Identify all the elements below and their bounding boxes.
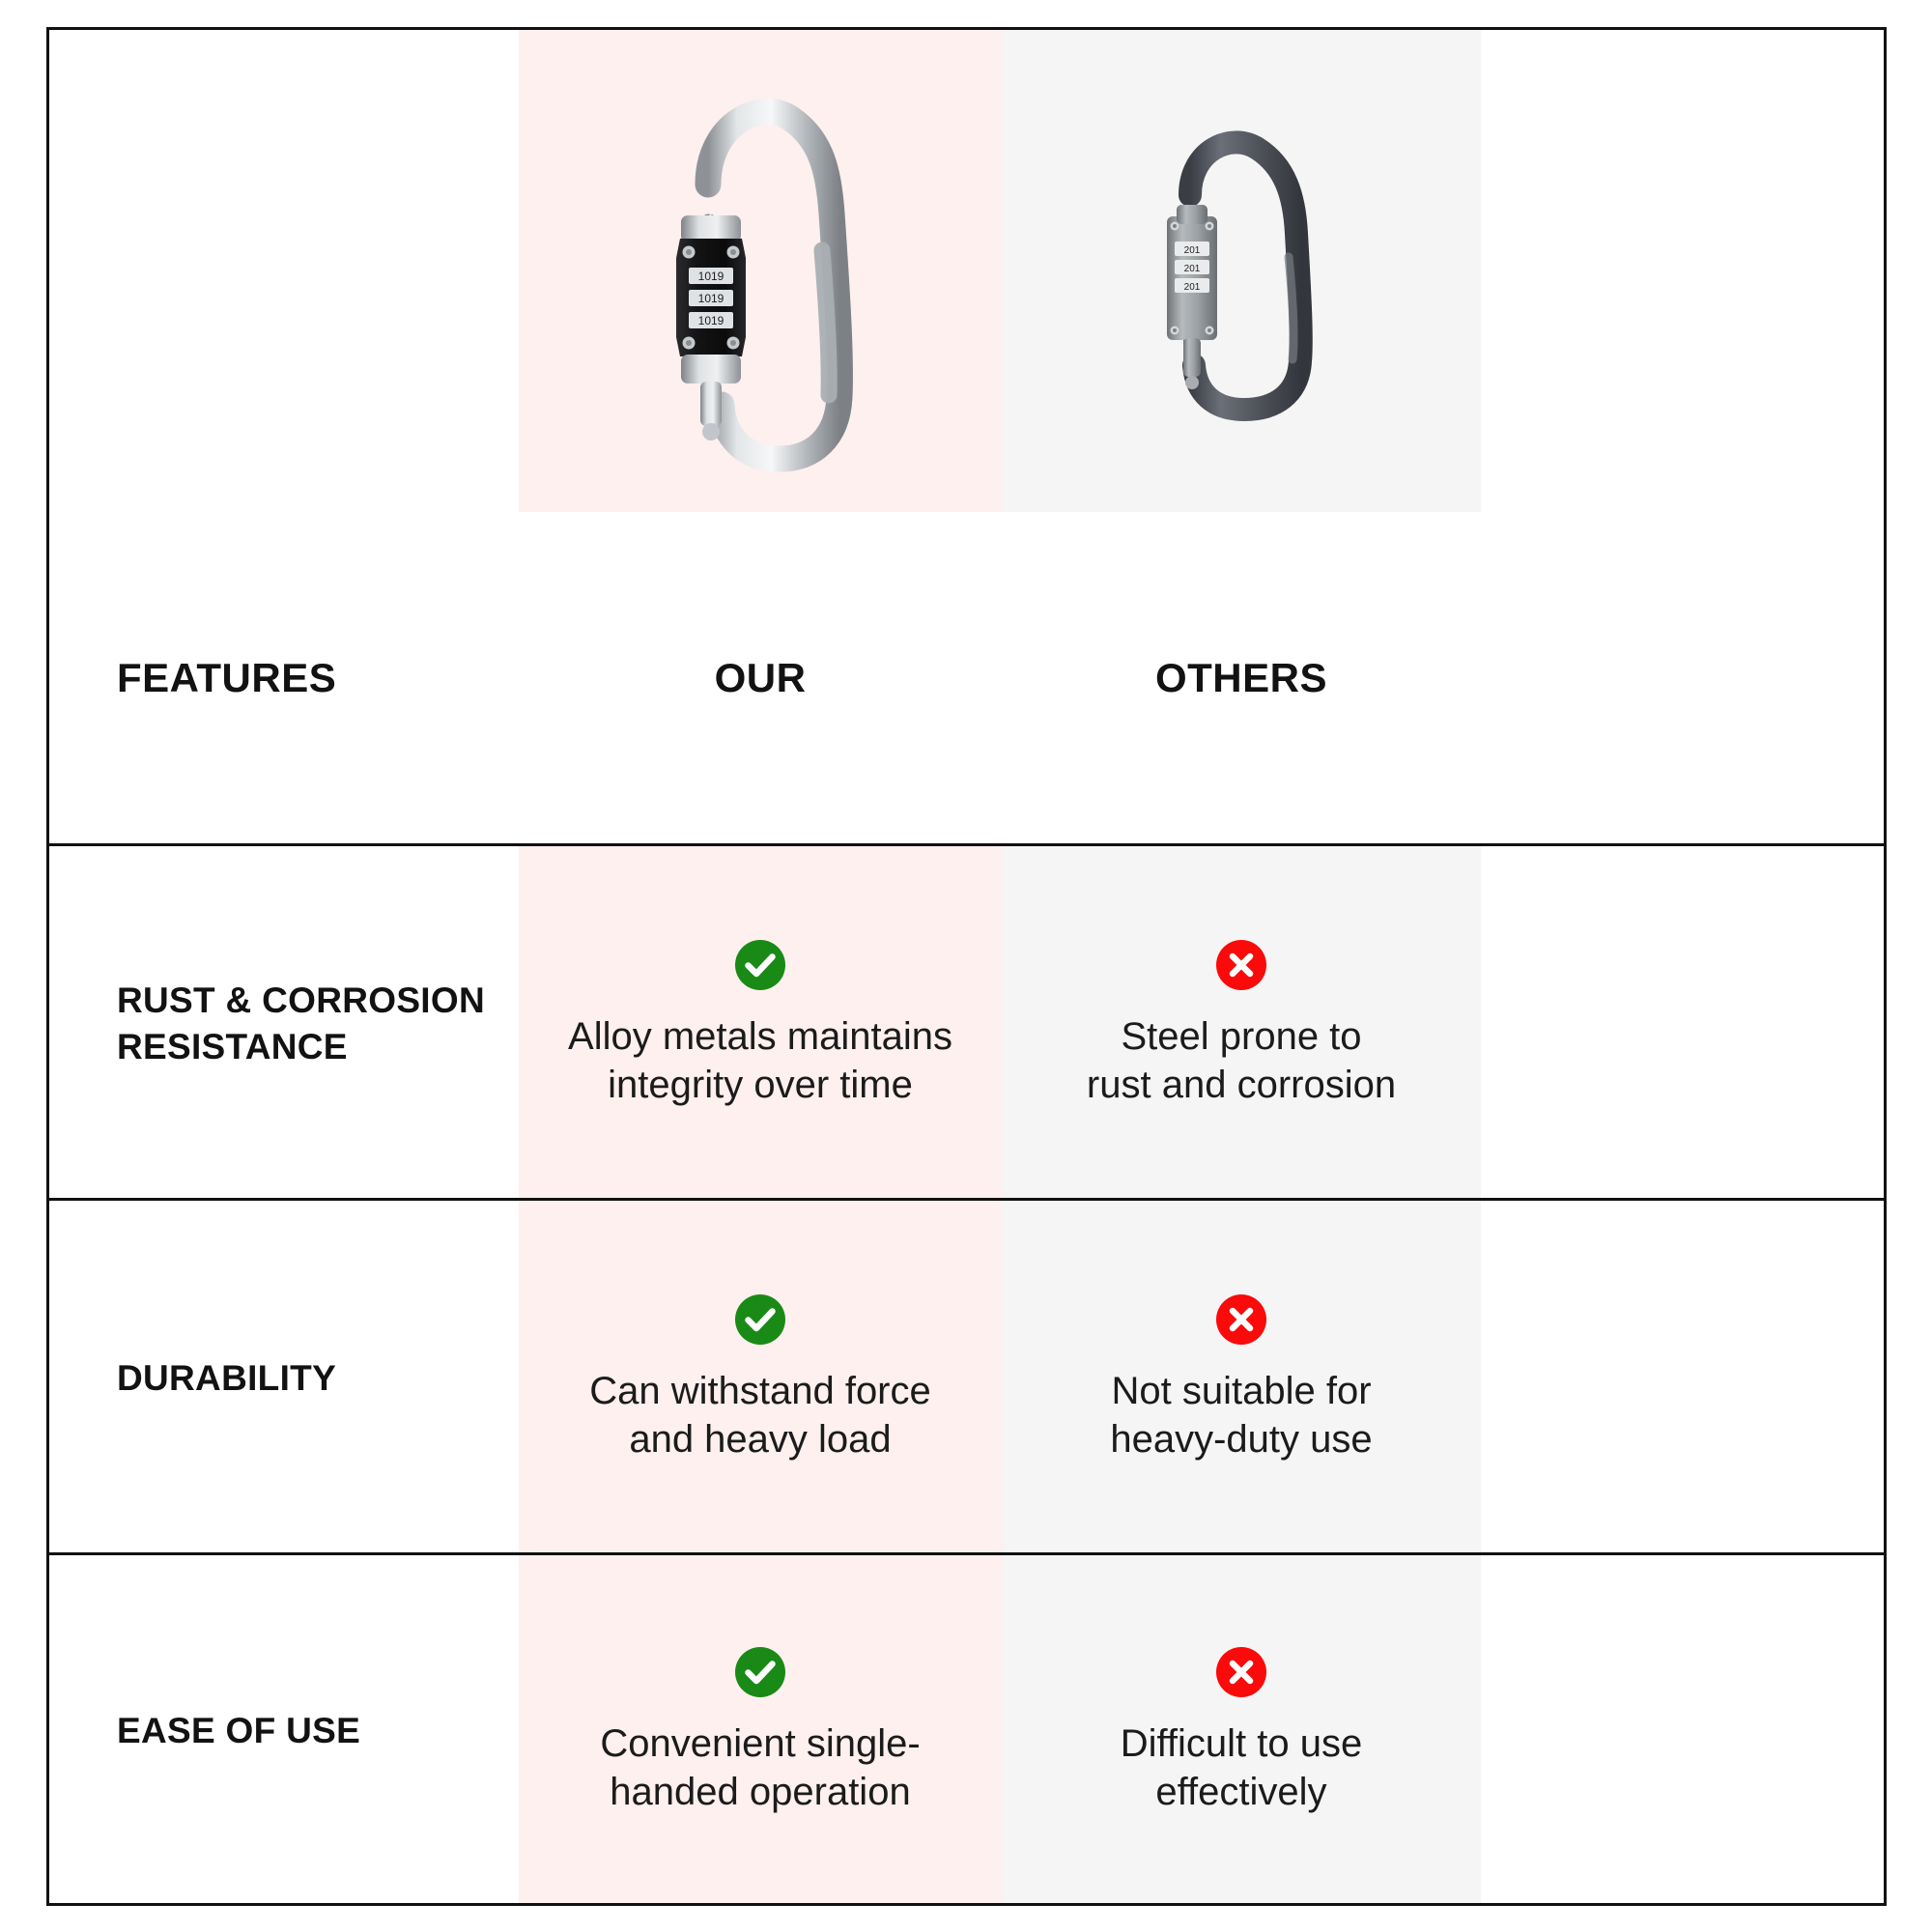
x-circle-icon (1214, 938, 1268, 992)
dark-gray-carabiner-icon: 201 201 201 (1130, 112, 1352, 431)
column-header-spacer (1481, 512, 1884, 843)
our-value-text: Can withstand force and heavy load (589, 1368, 931, 1463)
check-circle-icon (733, 938, 787, 992)
others-value-cell: Difficult to use effectively (1002, 1555, 1481, 1906)
svg-text:1019: 1019 (698, 270, 724, 283)
header-divider-rule (49, 843, 1884, 846)
x-circle-icon (1214, 1645, 1268, 1699)
svg-text:201: 201 (1184, 282, 1201, 293)
others-value-cell: Not suitable for heavy-duty use (1002, 1201, 1481, 1555)
feature-label-cell: DURABILITY (49, 1201, 519, 1555)
table-row: DURABILITY Can withstand force and heavy… (49, 1201, 1884, 1555)
product-image-row: 1019 1019 1019 (49, 30, 1884, 512)
product-image-cell-our: 1019 1019 1019 (519, 30, 1002, 512)
our-value-text: Alloy metals maintains integrity over ti… (568, 1013, 952, 1109)
product-image-cell-others: 201 201 201 (1002, 30, 1481, 512)
product-image-cell-spacer (1481, 30, 1884, 512)
our-value-cell: Convenient single- handed operation (519, 1555, 1002, 1906)
feature-label: DURABILITY (117, 1355, 499, 1401)
others-value-text: Difficult to use effectively (1121, 1720, 1363, 1816)
our-value-cell: Alloy metals maintains integrity over ti… (519, 846, 1002, 1201)
our-value-text: Convenient single- handed operation (600, 1720, 920, 1816)
svg-text:1019: 1019 (698, 314, 724, 327)
check-circle-icon (733, 1293, 787, 1347)
others-value-text: Not suitable for heavy-duty use (1110, 1368, 1372, 1463)
svg-text:201: 201 (1184, 245, 1201, 256)
comparison-table: 1019 1019 1019 (46, 27, 1887, 1906)
our-value-cell: Can withstand force and heavy load (519, 1201, 1002, 1555)
feature-label: EASE OF USE (117, 1708, 499, 1753)
column-header-others: OTHERS (1002, 512, 1481, 843)
svg-text:201: 201 (1184, 264, 1201, 274)
others-value-cell: Steel prone to rust and corrosion (1002, 846, 1481, 1201)
feature-label-cell: EASE OF USE (49, 1555, 519, 1906)
row-spacer-cell (1481, 846, 1884, 1201)
product-image-cell-features (49, 30, 519, 512)
comparison-table-page: 1019 1019 1019 (0, 0, 1932, 1932)
column-header-row: FEATURES OUR OTHERS (49, 512, 1884, 843)
others-value-text: Steel prone to rust and corrosion (1087, 1013, 1396, 1109)
column-header-features: FEATURES (49, 512, 519, 843)
table-row: RUST & CORROSION RESISTANCE Alloy metals… (49, 846, 1884, 1201)
table-row: EASE OF USE Convenient single- handed op… (49, 1555, 1884, 1906)
x-circle-icon (1214, 1293, 1268, 1347)
row-spacer-cell (1481, 1555, 1884, 1906)
feature-label-cell: RUST & CORROSION RESISTANCE (49, 846, 519, 1201)
row-divider-rule-1 (49, 1198, 1884, 1201)
row-spacer-cell (1481, 1201, 1884, 1555)
column-header-our: OUR (519, 512, 1002, 843)
svg-text:1019: 1019 (698, 292, 724, 305)
feature-label: RUST & CORROSION RESISTANCE (117, 978, 499, 1069)
check-circle-icon (733, 1645, 787, 1699)
silver-carabiner-icon: 1019 1019 1019 (615, 69, 905, 474)
row-divider-rule-2 (49, 1552, 1884, 1555)
